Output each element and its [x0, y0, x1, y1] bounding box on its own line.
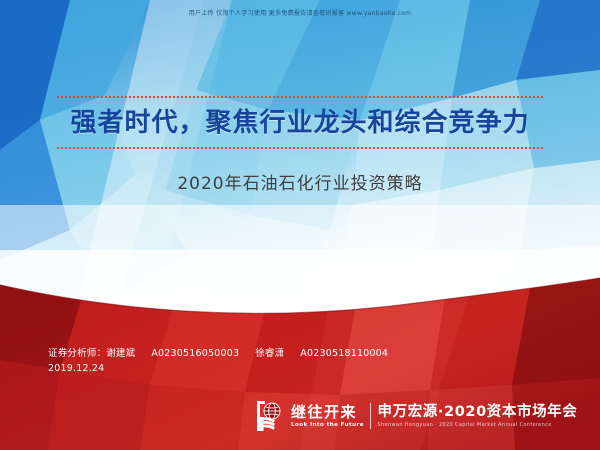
watermark-banner: 用户上传 仅限个人学习使用 更多免费报告请查看研报客 www.yanbaoke.…	[0, 0, 600, 24]
event-title: 申万宏源·2020资本市场年会 Shenwan Hongyuan · 2020 …	[378, 404, 578, 429]
report-date: 2019.12.24	[48, 361, 388, 376]
presentation-title-slide: 用户上传 仅限个人学习使用 更多免费报告请查看研报客 www.yanbaoke.…	[0, 0, 600, 450]
analyst-2-code: A0230518110004	[300, 348, 388, 359]
slogan-english: Look Into the Future	[291, 421, 364, 429]
dotted-rule-top	[57, 96, 543, 98]
logo-slogan: 继往开来 Look Into the Future	[291, 404, 370, 429]
dotted-rule-bottom	[57, 147, 543, 149]
analyst-1-name: 谢建斌	[106, 348, 135, 359]
event-title-chinese: 申万宏源·2020资本市场年会	[378, 404, 578, 421]
analyst-1-code: A0230516050003	[151, 348, 239, 359]
analyst-names-line: 证券分析师：谢建斌A0230516050003徐睿潇A0230518110004	[48, 346, 388, 361]
slide-background	[0, 0, 600, 450]
analyst-info: 证券分析师：谢建斌A0230516050003徐睿潇A0230518110004…	[48, 346, 388, 376]
logo-divider	[370, 403, 371, 429]
hand-holding-globe-icon	[256, 400, 286, 432]
analyst-label: 证券分析师：	[48, 348, 106, 359]
slogan-chinese: 继往开来	[291, 404, 363, 421]
page-title: 强者时代，聚焦行业龙头和综合竞争力	[0, 103, 600, 143]
conference-logo-lockup: 继往开来 Look Into the Future 申万宏源·2020资本市场年…	[256, 398, 577, 434]
analyst-2-name: 徐睿潇	[255, 348, 284, 359]
page-subtitle: 2020年石油石化行业投资策略	[0, 171, 600, 197]
title-block: 强者时代，聚焦行业龙头和综合竞争力 2020年石油石化行业投资策略	[0, 96, 600, 197]
event-title-english: Shenwan Hongyuan · 2020 Capital Market A…	[378, 421, 578, 429]
watermark-text: 用户上传 仅限个人学习使用 更多免费报告请查看研报客 www.yanbaoke.…	[189, 8, 412, 17]
